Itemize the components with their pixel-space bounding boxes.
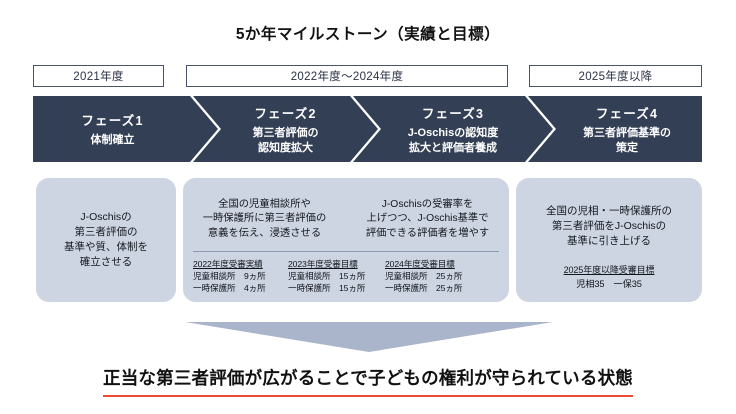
phase-3-subtitle: J-Oschisの認知度 拡大と評価者養成 — [408, 126, 498, 154]
milestone-data-2024-line-2: 一時保護所 25ヵ所 — [385, 283, 489, 295]
phase-1-subtitle: 体制確立 — [91, 133, 135, 147]
detail-panel-phase-2-3: 全国の児童相談所や 一時保護所に第三者評価の 意義を伝え、浸透させる J-Osc… — [183, 178, 509, 302]
milestone-data-2023-line-2: 一時保護所 15ヵ所 — [288, 283, 392, 295]
detail-panel-phase-1: J-Oschisの 第三者評価の 基準や質、体制を 確立させる — [36, 178, 176, 302]
milestone-data-2022-line-1: 児童相談所 9ヵ所 — [193, 271, 297, 283]
conclusion-wrapper: 正当な第三者評価が広がることで子どもの権利が守られている状態 — [0, 365, 736, 397]
milestone-data-2024-line-1: 児童相談所 25ヵ所 — [385, 271, 489, 283]
detail-panel-phase-4-text: 全国の児相・一時保護所の 第三者評価をJ-Oschisの 基準に引き上げる — [516, 204, 702, 249]
phase-chevron-3: フェーズ3 J-Oschisの認知度 拡大と評価者養成 — [353, 96, 553, 162]
milestone-data-2024: 2024年度受審目標 児童相談所 25ヵ所 一時保護所 25ヵ所 — [385, 258, 489, 295]
phase-chevron-1: フェーズ1 体制確立 — [33, 96, 218, 162]
milestone-data-2023-line-1: 児童相談所 15ヵ所 — [288, 271, 392, 283]
detail-panel-phase-1-text: J-Oschisの 第三者評価の 基準や質、体制を 確立させる — [36, 210, 176, 270]
milestone-data-row: 2022年度受審実績 児童相談所 9ヵ所 一時保護所 4ヵ所 2023年度受審目… — [183, 258, 509, 302]
phase-3-name: フェーズ3 — [422, 103, 484, 122]
milestone-data-2025: 2025年度以降受審目標 児相35 一保35 — [516, 260, 702, 291]
year-header-2022-2024: 2022年度〜2024年度 — [186, 65, 508, 87]
phase-2-subtitle: 第三者評価の 認知度拡大 — [253, 126, 319, 154]
phase-4-subtitle: 第三者評価基準の 策定 — [583, 126, 671, 154]
panel-divider — [193, 251, 499, 252]
phase-2-name: フェーズ2 — [254, 103, 316, 122]
slide-title: 5か年マイルストーン（実績と目標） — [0, 22, 736, 44]
phase-1-name: フェーズ1 — [81, 110, 143, 129]
detail-card-phase-2-text: 全国の児童相談所や 一時保護所に第三者評価の 意義を伝え、浸透させる — [183, 198, 346, 241]
phase-chevron-2: フェーズ2 第三者評価の 認知度拡大 — [193, 96, 378, 162]
milestone-data-2025-heading: 2025年度以降受審目標 — [564, 263, 655, 276]
phase-chevron-4: フェーズ4 第三者評価基準の 策定 — [528, 96, 702, 162]
milestone-data-2023-heading: 2023年度受審目標 — [288, 258, 392, 270]
detail-card-phase-3-text: J-Oschisの受審率を 上げつつ、J-Oschis基準で 評価できる評価者を… — [346, 198, 509, 241]
milestone-data-2022: 2022年度受審実績 児童相談所 9ヵ所 一時保護所 4ヵ所 — [193, 258, 297, 295]
milestone-data-2024-heading: 2024年度受審目標 — [385, 258, 489, 270]
milestone-data-2025-line: 児相35 一保35 — [516, 278, 702, 291]
phase-chevron-band: フェーズ1 体制確立 フェーズ2 第三者評価の 認知度拡大 フェーズ3 J-Os… — [33, 96, 702, 162]
conclusion-statement: 正当な第三者評価が広がることで子どもの権利が守られている状態 — [103, 365, 633, 397]
slide-canvas: 5か年マイルストーン（実績と目標） 2021年度 2022年度〜2024年度 2… — [0, 0, 736, 414]
milestone-data-2022-heading: 2022年度受審実績 — [193, 258, 297, 270]
year-header-2025-onward: 2025年度以降 — [529, 65, 702, 87]
down-arrow-icon — [185, 322, 553, 352]
milestone-data-2022-line-2: 一時保護所 4ヵ所 — [193, 283, 297, 295]
detail-panel-phase-4: 全国の児相・一時保護所の 第三者評価をJ-Oschisの 基準に引き上げる 20… — [516, 178, 702, 302]
milestone-data-2023: 2023年度受審目標 児童相談所 15ヵ所 一時保護所 15ヵ所 — [288, 258, 392, 295]
phase-4-name: フェーズ4 — [596, 103, 658, 122]
year-header-2021: 2021年度 — [33, 65, 164, 87]
